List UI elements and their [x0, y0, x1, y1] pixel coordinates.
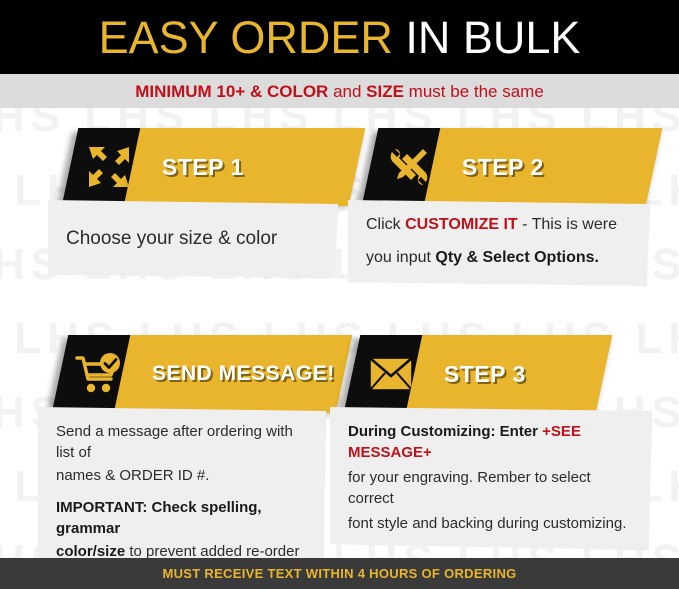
step-card-2-line-2: you input Qty & Select Options.: [366, 247, 632, 269]
text-segment-bold: IMPORTANT: Check spelling, grammar: [56, 499, 262, 537]
text-segment: for your engraving. Rember to select cor…: [348, 469, 591, 507]
step-card-4-line-3: font style and backing during customizin…: [348, 513, 634, 534]
text-segment: - This is were: [518, 216, 617, 233]
step-card-4-banner: STEP 3: [406, 335, 613, 413]
step-card-4-body: During Customizing: Enter +SEE MESSAGE+ …: [330, 407, 652, 550]
step-card-3-head: SEND MESSAGE!: [38, 335, 338, 413]
text-segment: Send a message after ordering with list …: [56, 423, 293, 461]
step-card-1: STEP 1 Choose your size & color: [48, 128, 348, 278]
step-card-4-label: STEP 3: [444, 361, 526, 388]
subtitle-regular-2: must be the same: [404, 82, 544, 101]
header-banner: EASY ORDER IN BULK: [0, 0, 679, 74]
subtitle-text: MINIMUM 10+ & COLOR and SIZE must be the…: [135, 83, 544, 100]
step-card-3-line-2: names & ORDER ID #.: [56, 465, 308, 486]
step-card-2-label: STEP 2: [462, 154, 544, 181]
step-card-4-line-1: During Customizing: Enter +SEE MESSAGE+: [348, 421, 634, 463]
promo-infographic: LHS LHS LHS LHS LHS LHS LHS L LHS LHS LH…: [0, 0, 679, 589]
text-segment: font style and backing during customizin…: [348, 515, 627, 532]
step-card-1-banner: STEP 1: [124, 128, 366, 206]
text-segment: Click: [366, 216, 405, 233]
text-segment: you input: [366, 249, 435, 266]
step-card-2-line-1: Click CUSTOMIZE IT - This is were: [366, 214, 632, 236]
text-segment: Choose your size & color: [66, 228, 277, 249]
subtitle-banner: MINIMUM 10+ & COLOR and SIZE must be the…: [0, 74, 679, 108]
footer-text: MUST RECEIVE TEXT WITHIN 4 HOURS OF ORDE…: [162, 567, 516, 580]
step-card-1-head: STEP 1: [48, 128, 348, 206]
step-card-2-banner: STEP 2: [424, 128, 663, 206]
step-card-1-body: Choose your size & color: [48, 200, 338, 278]
text-segment-bold: Qty & Select Options.: [435, 249, 599, 266]
step-card-2-head: STEP 2: [348, 128, 658, 206]
step-card-3-line-1: Send a message after ordering with list …: [56, 421, 308, 463]
subtitle-regular-1: and: [328, 82, 366, 101]
page-title-primary: EASY ORDER: [99, 12, 393, 63]
step-card-4: STEP 3 During Customizing: Enter +SEE ME…: [330, 335, 660, 550]
step-card-2-body: Click CUSTOMIZE IT - This is were you in…: [348, 200, 650, 286]
text-segment-highlight: CUSTOMIZE IT: [405, 216, 518, 233]
page-title-secondary: IN BULK: [393, 12, 581, 63]
step-card-4-head: STEP 3: [330, 335, 660, 413]
text-segment: names & ORDER ID #.: [56, 467, 209, 484]
step-card-3-label: SEND MESSAGE!: [152, 362, 335, 386]
step-card-3-line-3: IMPORTANT: Check spelling, grammar: [56, 497, 308, 539]
step-card-3: SEND MESSAGE! Send a message after order…: [38, 335, 338, 589]
step-card-1-line-1: Choose your size & color: [66, 214, 320, 253]
step-card-3-banner: SEND MESSAGE!: [114, 335, 353, 413]
text-segment-bold: During Customizing: Enter: [348, 423, 542, 440]
step-card-2: STEP 2 Click CUSTOMIZE IT - This is were…: [348, 128, 658, 286]
step-card-4-line-2: for your engraving. Rember to select cor…: [348, 467, 634, 509]
subtitle-bold-1: MINIMUM 10+ & COLOR: [135, 82, 328, 101]
footer-banner: MUST RECEIVE TEXT WITHIN 4 HOURS OF ORDE…: [0, 558, 679, 589]
subtitle-bold-2: SIZE: [366, 82, 404, 101]
step-card-1-label: STEP 1: [162, 154, 244, 181]
page-title: EASY ORDER IN BULK: [99, 15, 581, 60]
